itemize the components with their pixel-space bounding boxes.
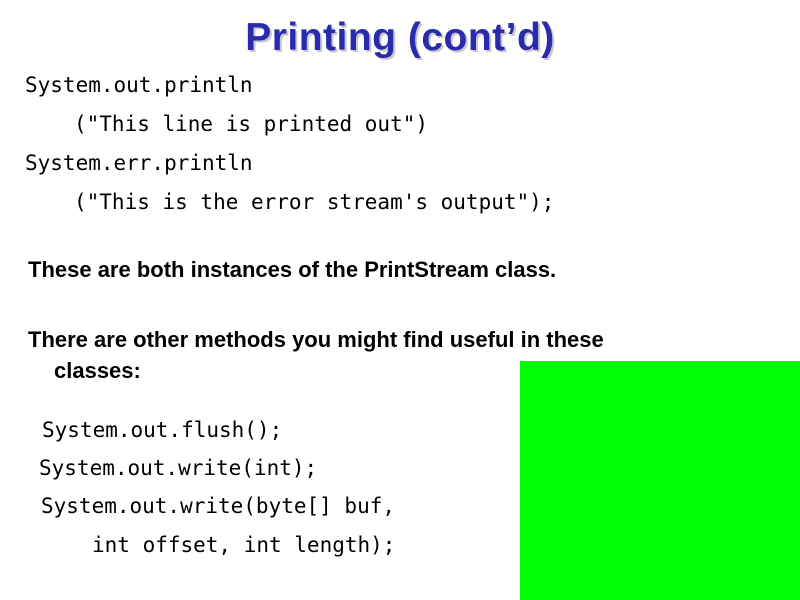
- code-line: ("This is the error stream's output");: [74, 189, 554, 215]
- presentation-slide: Printing (cont’d) System.out.println ("T…: [0, 0, 800, 600]
- code-line: System.out.flush();: [42, 417, 282, 443]
- green-rectangle-decoration: [520, 361, 800, 600]
- code-line: int offset, int length);: [92, 532, 395, 558]
- slide-title: Printing (cont’d): [0, 16, 800, 60]
- code-line: System.err.println: [25, 150, 253, 176]
- code-line: System.out.write(int);: [39, 455, 317, 481]
- code-line: ("This line is printed out"): [74, 111, 428, 137]
- code-line: System.out.write(byte[] buf,: [41, 493, 395, 519]
- code-line: System.out.println: [25, 72, 253, 98]
- body-paragraph: There are other methods you might find u…: [28, 324, 654, 386]
- body-paragraph: These are both instances of the PrintStr…: [28, 254, 724, 285]
